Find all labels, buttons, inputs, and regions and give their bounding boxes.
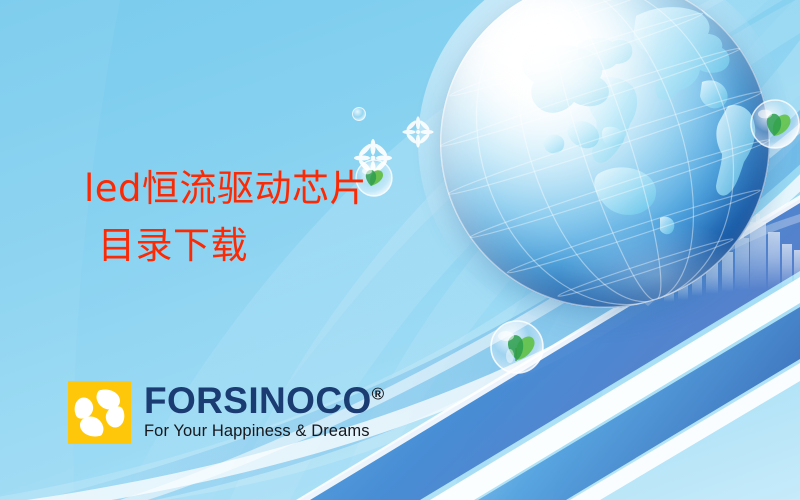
bubble-with-sprout-icon xyxy=(491,321,543,373)
brand-logo: FORSINOCO® For Your Happiness & Dreams xyxy=(68,381,384,444)
headline-line-2: 目录下载 xyxy=(84,217,367,274)
logo-wordmark-text: FORSINOCO xyxy=(144,380,372,421)
flower-sparkle-icon xyxy=(402,116,433,147)
promo-banner: led恒流驱动芯片 目录下载 FORSINOCO® For Your Happi… xyxy=(0,0,800,500)
logo-tagline: For Your Happiness & Dreams xyxy=(144,422,384,441)
logo-text-block: FORSINOCO® For Your Happiness & Dreams xyxy=(144,382,384,441)
pinwheel-petals xyxy=(68,381,131,444)
page-title: led恒流驱动芯片 目录下载 xyxy=(84,160,367,275)
bubble-small-icon xyxy=(353,108,366,121)
bubble-with-sprout-icon xyxy=(751,100,799,148)
registered-trademark-icon: ® xyxy=(372,385,385,404)
headline-line-1: led恒流驱动芯片 xyxy=(84,160,367,217)
four-petal-pinwheel-icon xyxy=(68,381,131,444)
logo-wordmark: FORSINOCO® xyxy=(144,382,384,419)
